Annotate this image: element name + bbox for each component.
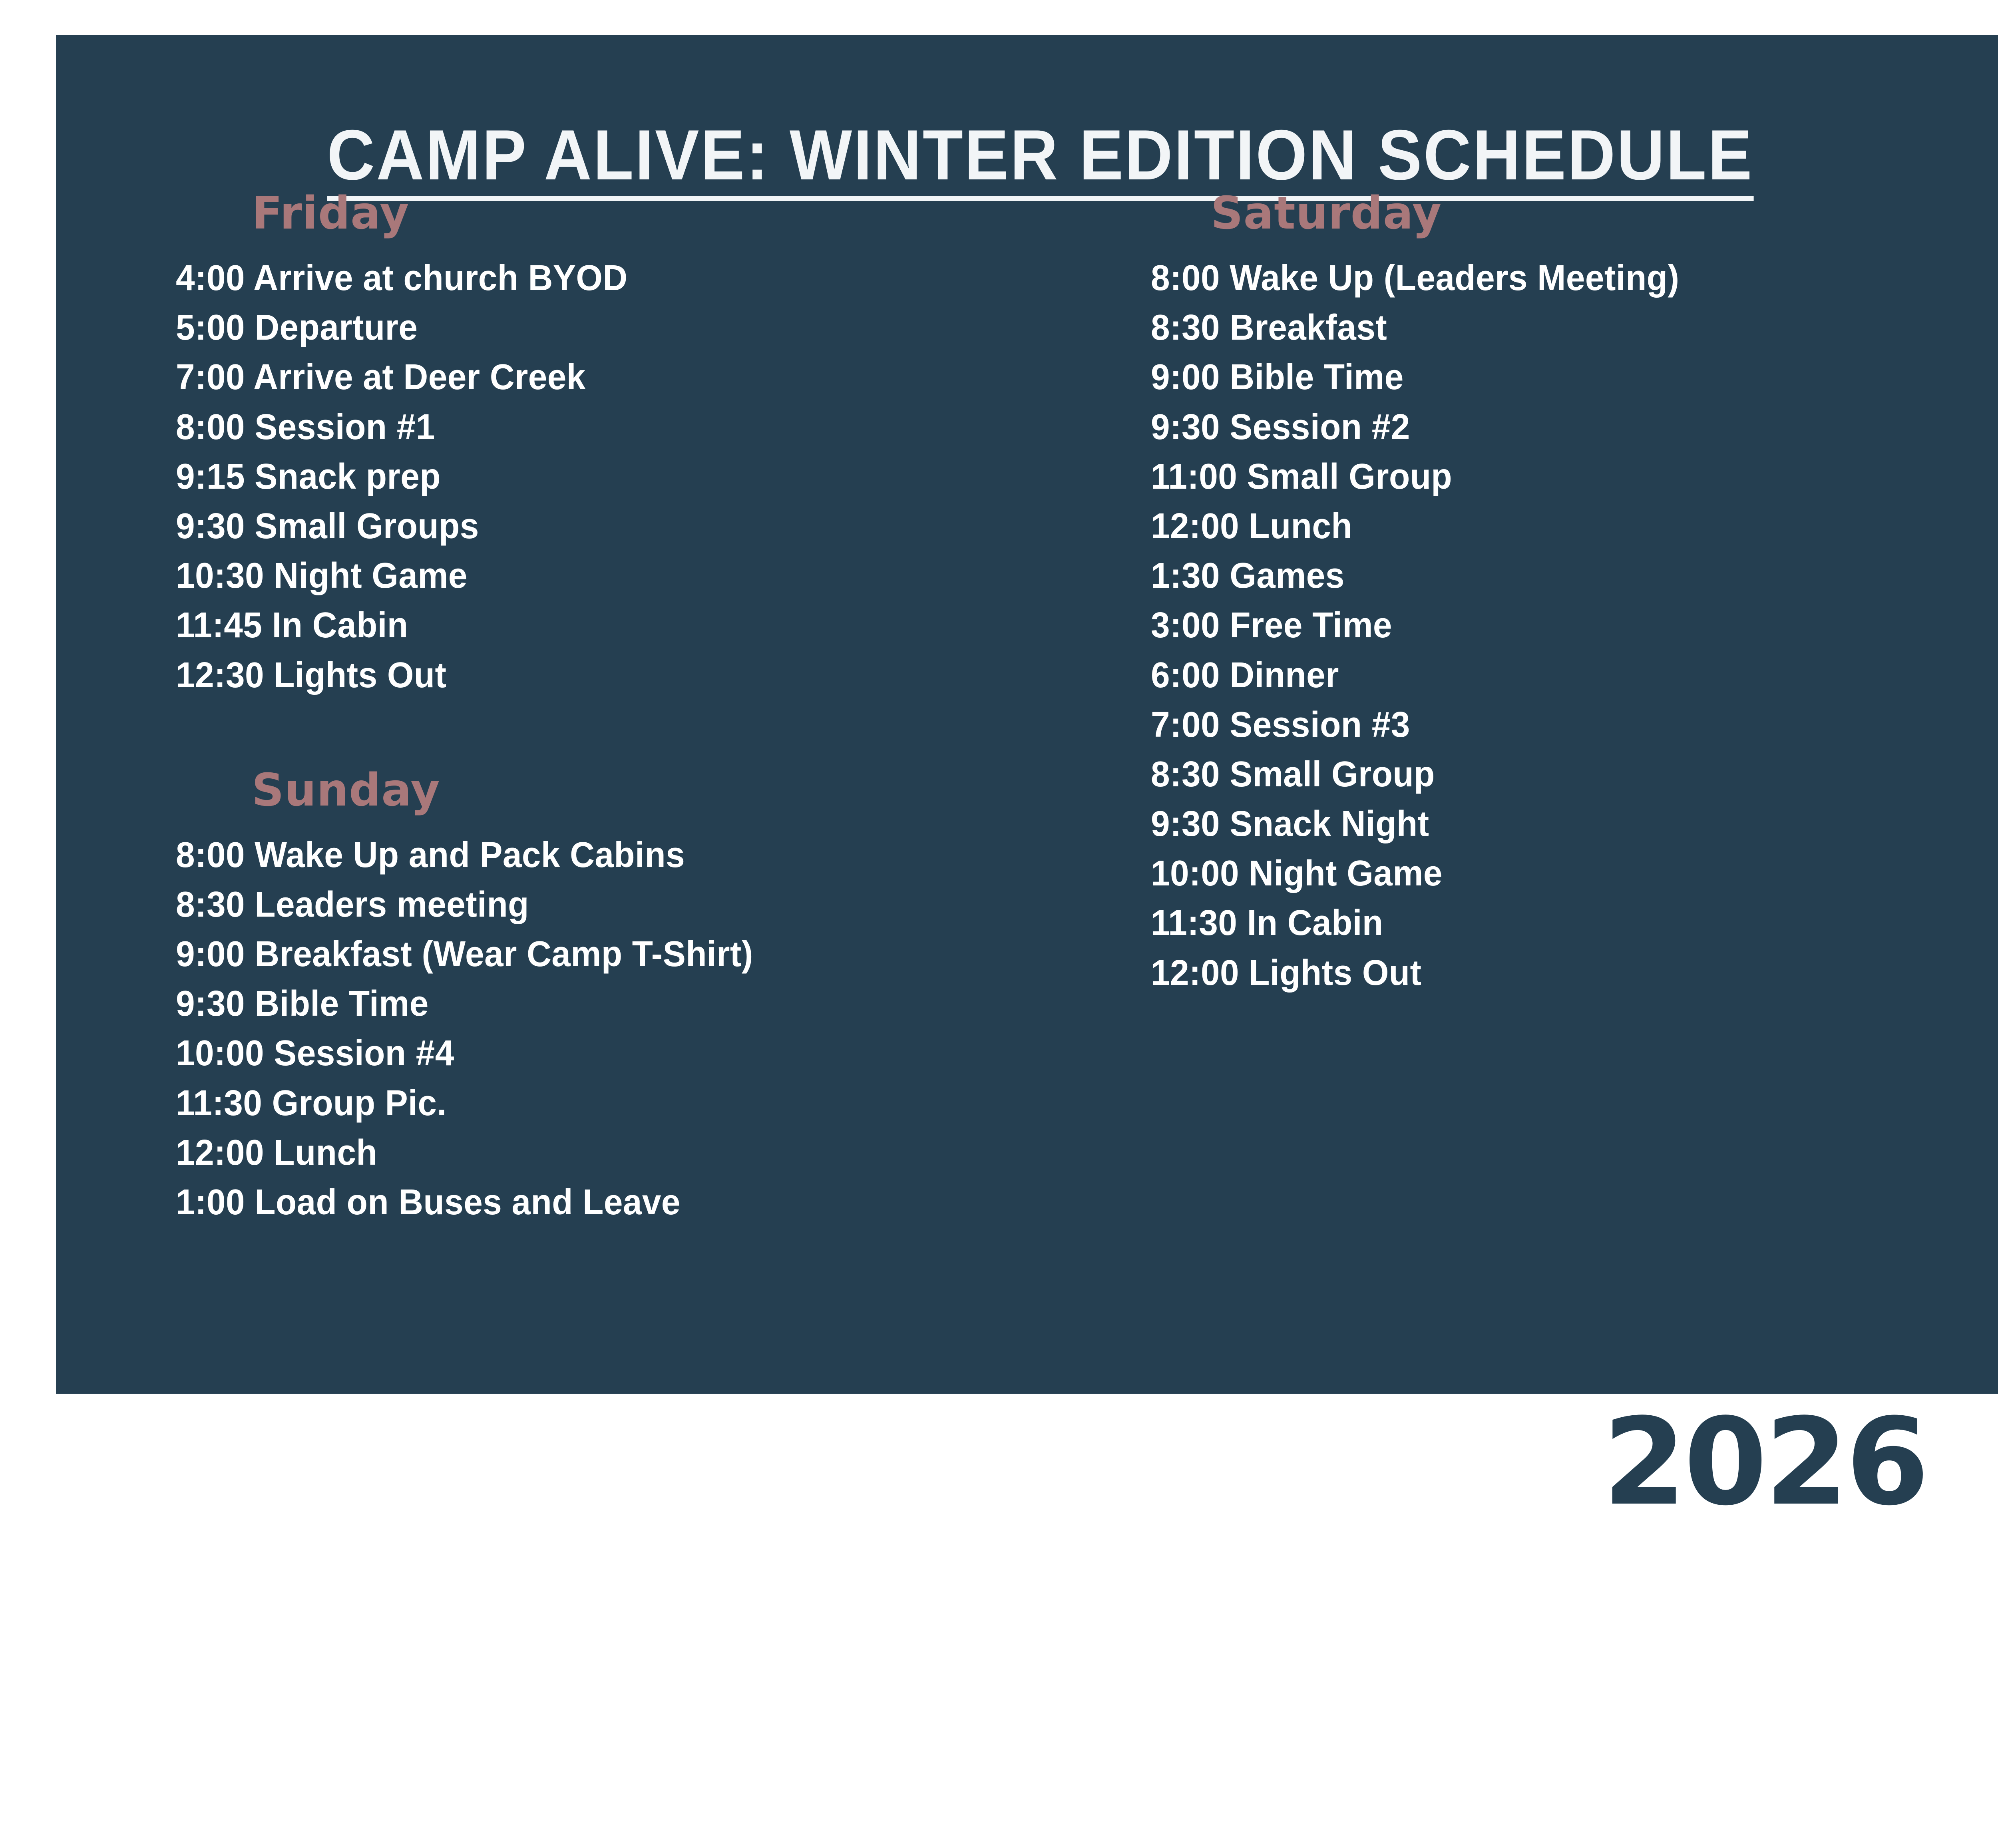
list-item: 11:00 Small Group <box>1151 452 1902 501</box>
schedule-list-friday: 4:00 Arrive at church BYOD 5:00 Departur… <box>136 253 1055 700</box>
list-item: 12:00 Lights Out <box>1151 948 1902 998</box>
list-item: 9:15 Snack prep <box>176 452 1011 501</box>
day-heading-saturday: Saturday <box>1103 191 1942 236</box>
list-item: 11:45 In Cabin <box>176 601 1011 650</box>
schedule-list-saturday: 8:00 Wake Up (Leaders Meeting) 8:30 Brea… <box>1103 253 1942 998</box>
day-heading-friday: Friday <box>136 191 1055 236</box>
list-item: 8:30 Breakfast <box>1151 303 1902 352</box>
day-block-friday: Friday 4:00 Arrive at church BYOD 5:00 D… <box>136 191 1055 700</box>
list-item: 1:00 Load on Buses and Leave <box>176 1178 1011 1227</box>
list-item: 1:30 Games <box>1151 551 1902 601</box>
list-item: 4:00 Arrive at church BYOD <box>176 253 1011 303</box>
list-item: 12:30 Lights Out <box>176 650 1011 700</box>
list-item: 9:30 Small Groups <box>176 501 1011 551</box>
list-item: 5:00 Departure <box>176 303 1011 352</box>
day-block-saturday: Saturday 8:00 Wake Up (Leaders Meeting) … <box>1103 191 1942 998</box>
list-item: 10:30 Night Game <box>176 551 1011 601</box>
list-item: 11:30 In Cabin <box>1151 898 1902 948</box>
day-heading-sunday: Sunday <box>136 768 1055 813</box>
list-item: 8:00 Wake Up and Pack Cabins <box>176 830 1011 880</box>
list-item: 12:00 Lunch <box>1151 501 1902 551</box>
list-item: 11:30 Group Pic. <box>176 1078 1011 1128</box>
list-item: 8:30 Small Group <box>1151 750 1902 799</box>
year-badge: 2026 <box>1603 1402 1927 1522</box>
schedule-column-right: Saturday 8:00 Wake Up (Leaders Meeting) … <box>1103 191 1942 998</box>
schedule-columns: Friday 4:00 Arrive at church BYOD 5:00 D… <box>56 191 1998 1374</box>
schedule-column-left: Friday 4:00 Arrive at church BYOD 5:00 D… <box>136 191 1055 1227</box>
list-item: 7:00 Session #3 <box>1151 700 1902 750</box>
list-item: 6:00 Dinner <box>1151 650 1902 700</box>
poster-panel: CAMP ALIVE: WINTER EDITION SCHEDULE Frid… <box>56 35 1998 1394</box>
list-item: 8:00 Wake Up (Leaders Meeting) <box>1151 253 1902 303</box>
list-item: 10:00 Session #4 <box>176 1028 1011 1078</box>
list-item: 9:00 Breakfast (Wear Camp T-Shirt) <box>176 929 1011 979</box>
list-item: 8:00 Session #1 <box>176 402 1011 452</box>
list-item: 7:00 Arrive at Deer Creek <box>176 352 1011 402</box>
list-item: 9:30 Session #2 <box>1151 402 1902 452</box>
list-item: 8:30 Leaders meeting <box>176 880 1011 929</box>
page-title: CAMP ALIVE: WINTER EDITION SCHEDULE <box>327 119 1753 201</box>
list-item: 9:30 Snack Night <box>1151 799 1902 849</box>
list-item: 10:00 Night Game <box>1151 849 1902 898</box>
list-item: 3:00 Free Time <box>1151 601 1902 650</box>
day-block-sunday: Sunday 8:00 Wake Up and Pack Cabins 8:30… <box>136 768 1055 1227</box>
list-item: 9:00 Bible Time <box>1151 352 1902 402</box>
schedule-list-sunday: 8:00 Wake Up and Pack Cabins 8:30 Leader… <box>136 830 1055 1227</box>
list-item: 9:30 Bible Time <box>176 979 1011 1028</box>
list-item: 12:00 Lunch <box>176 1128 1011 1178</box>
